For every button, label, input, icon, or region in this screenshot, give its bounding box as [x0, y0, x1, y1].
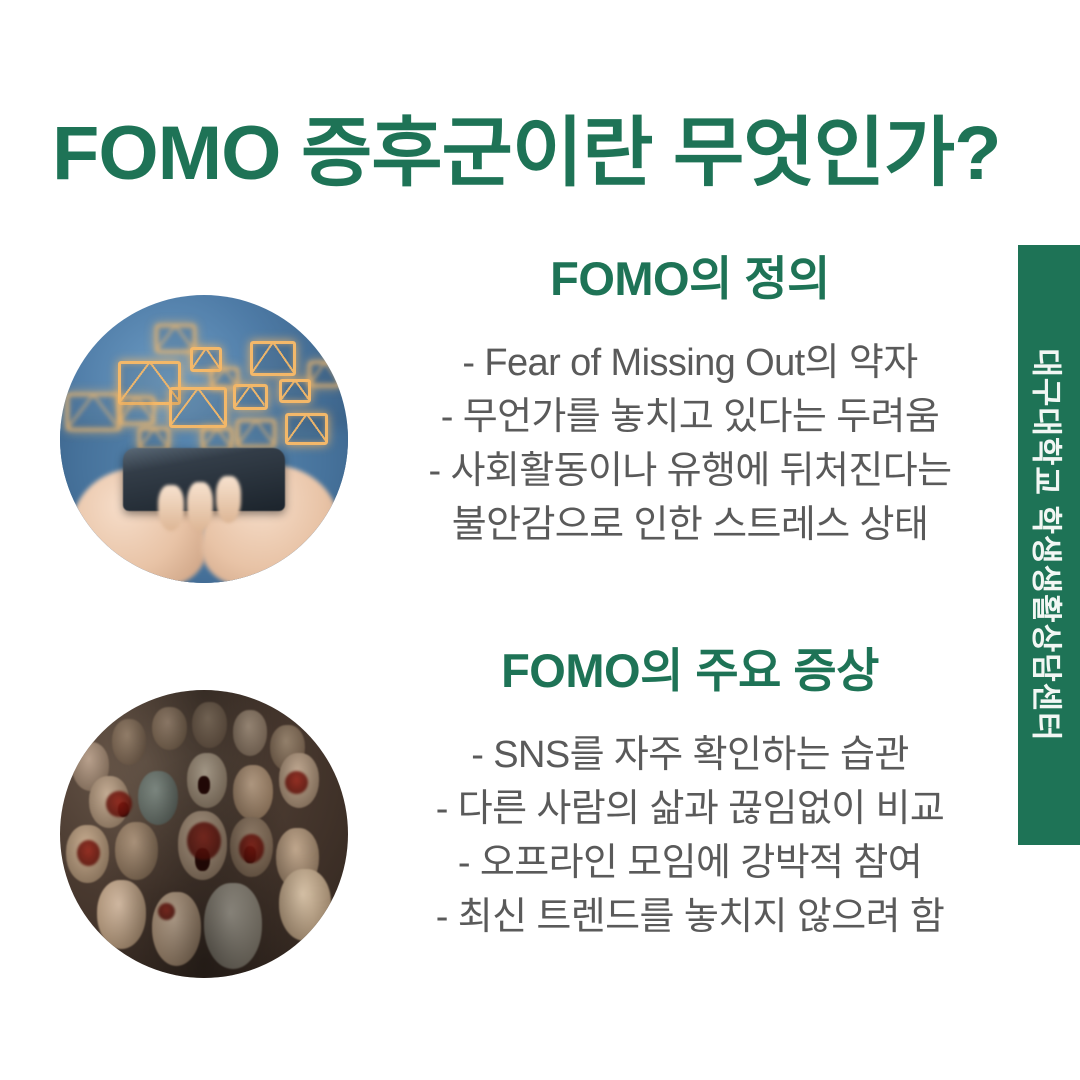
photo-vignette [60, 690, 348, 978]
definition-photo [60, 295, 348, 583]
envelope-icon [285, 413, 328, 445]
envelope-icon [279, 379, 311, 404]
list-item: - 최신 트렌드를 놓치지 않으려 함 [370, 890, 1010, 944]
envelope-icon [210, 367, 239, 389]
poster-card: FOMO 증후군이란 무엇인가? 대구대학교 학생생활상담센터 [0, 0, 1080, 1080]
envelope-icon [236, 419, 277, 448]
brand-sidebar: 대구대학교 학생생활상담센터 [1018, 245, 1080, 845]
section-heading-symptoms: FOMO의 주요 증상 [370, 640, 1010, 702]
list-item: - Fear of Missing Out의 약자 [370, 336, 1010, 390]
section-definition: FOMO의 정의 - Fear of Missing Out의 약자 - 무언가… [370, 248, 1010, 552]
envelope-icon [169, 387, 227, 428]
finger [158, 485, 184, 531]
envelope-icon [66, 393, 121, 431]
crowd-photo-inner [60, 690, 348, 978]
finger [187, 482, 213, 531]
definition-list: - Fear of Missing Out의 약자 - 무언가를 놓치고 있다는… [370, 336, 1010, 552]
envelope-icon [308, 361, 343, 387]
envelope-icon [250, 341, 296, 376]
section-symptoms: FOMO의 주요 증상 - SNS를 자주 확인하는 습관 - 다른 사람의 삶… [370, 640, 1010, 944]
list-item: - SNS를 자주 확인하는 습관 [370, 728, 1010, 782]
finger [216, 476, 242, 522]
symptoms-list: - SNS를 자주 확인하는 습관 - 다른 사람의 삶과 끊임없이 비교 - … [370, 728, 1010, 944]
list-item: - 다른 사람의 삶과 끊임없이 비교 [370, 782, 1010, 836]
envelope-icon [118, 396, 156, 425]
symptoms-photo [60, 690, 348, 978]
brand-sidebar-label: 대구대학교 학생생활상담센터 [1027, 348, 1072, 741]
section-heading-definition: FOMO의 정의 [370, 248, 1010, 310]
phone-photo-inner [60, 295, 348, 583]
page-title: FOMO 증후군이란 무엇인가? [52, 108, 1080, 200]
list-item: - 무언가를 놓치고 있다는 두려움 [370, 390, 1010, 444]
list-item: - 사회활동이나 유행에 뒤처진다는 [370, 444, 1010, 498]
list-item: - 오프라인 모임에 강박적 참여 [370, 836, 1010, 890]
list-item: 불안감으로 인한 스트레스 상태 [370, 498, 1010, 552]
